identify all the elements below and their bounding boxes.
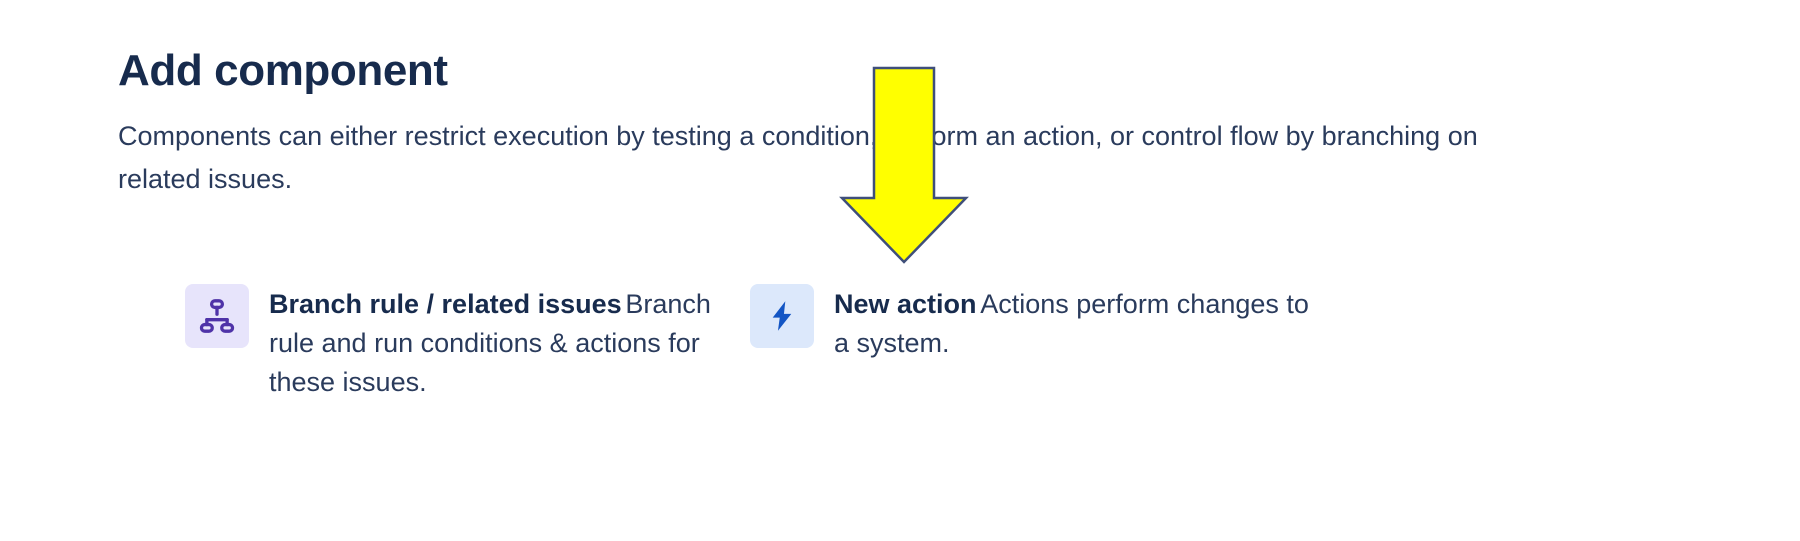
option-text-block: New action Actions perform changes to a … — [834, 284, 1310, 363]
page-description: Components can either restrict execution… — [118, 115, 1490, 200]
lightning-bolt-icon — [750, 284, 814, 348]
add-component-panel: Add component Components can either rest… — [0, 0, 1800, 541]
intro-block: Add component Components can either rest… — [118, 46, 1538, 201]
component-options-list: Branch rule / related issues Branch rule… — [185, 284, 1685, 402]
option-title: New action — [834, 289, 977, 319]
option-branch-rule-related-issues[interactable]: Branch rule / related issues Branch rule… — [185, 284, 750, 402]
branch-rule-icon — [185, 284, 249, 348]
option-text-block: Branch rule / related issues Branch rule… — [269, 284, 750, 402]
page-title: Add component — [118, 46, 1538, 95]
option-title: Branch rule / related issues — [269, 289, 622, 319]
option-new-action[interactable]: New action Actions perform changes to a … — [750, 284, 1310, 363]
